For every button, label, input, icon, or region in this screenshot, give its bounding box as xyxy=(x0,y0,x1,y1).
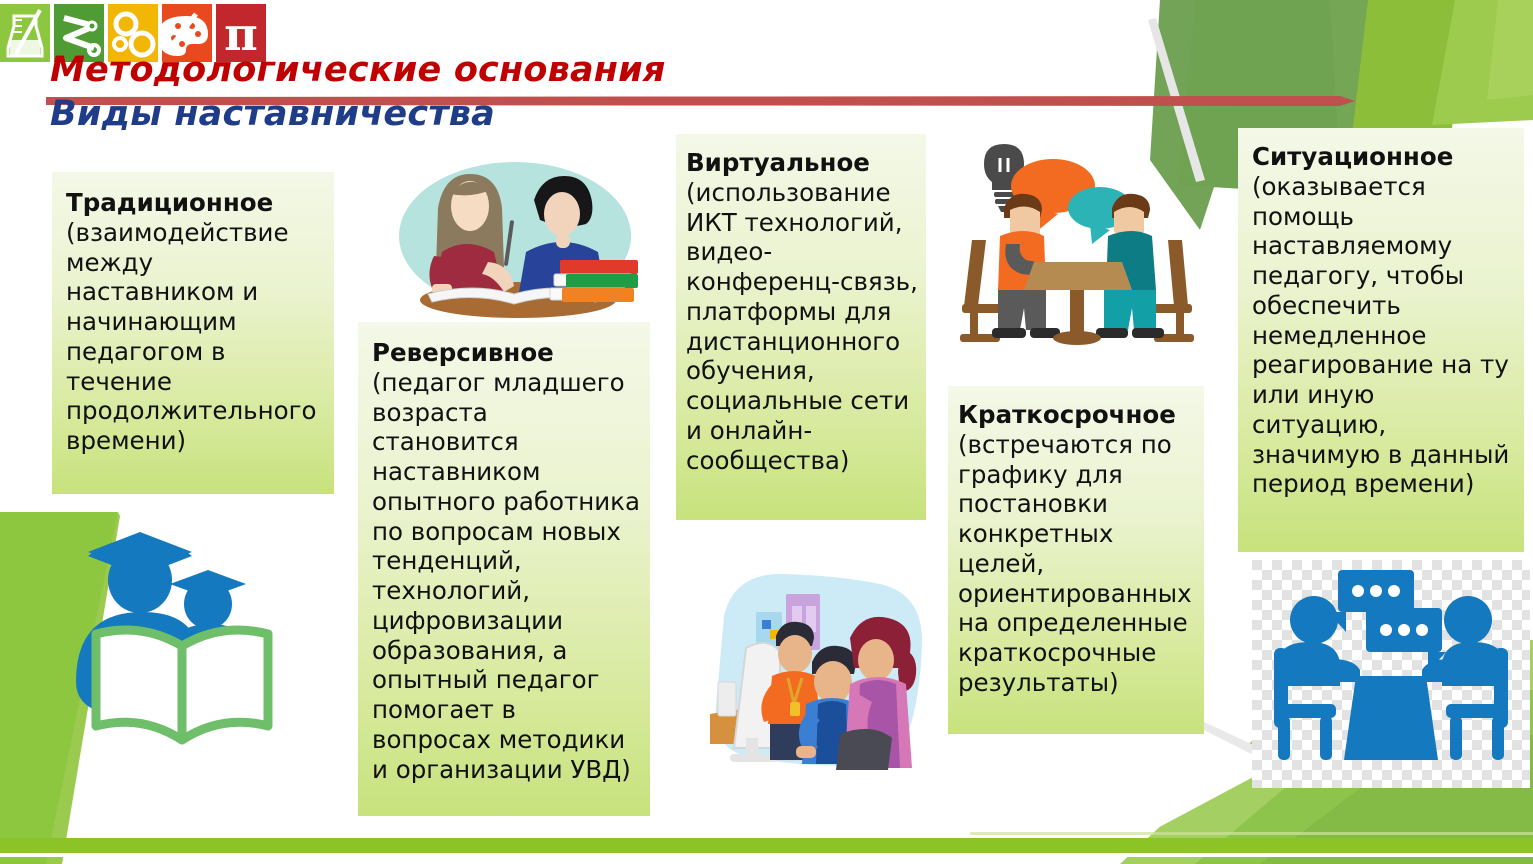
chair-right xyxy=(1168,240,1188,306)
chair-right-leg2-icon xyxy=(1492,716,1504,760)
title-block: Методологические основания Виды наставни… xyxy=(50,52,666,134)
card-reverse-text: Реверсивное (педагог младшего возраста с… xyxy=(372,338,642,784)
dot-upper-2 xyxy=(1370,585,1382,597)
person-right-shoe-2 xyxy=(1132,328,1164,338)
student-cap xyxy=(170,570,246,598)
two-people-meeting-illustration xyxy=(948,128,1206,378)
card-traditional-text: Традиционное (взаимодействие между наста… xyxy=(66,188,324,456)
chair-back xyxy=(836,729,892,770)
card-situational[interactable]: Ситуационное (оказывается помощь наставл… xyxy=(1238,128,1524,552)
chair-left-leg2-icon xyxy=(1320,716,1332,760)
woman-face xyxy=(858,639,894,681)
page-title: Методологические основания xyxy=(50,52,666,90)
card-virtual-body: (использование ИКТ технологий, видео-кон… xyxy=(686,178,918,475)
dot-lower-3 xyxy=(1416,624,1428,636)
chair-left-leg1-icon xyxy=(1278,716,1290,760)
card-situational-heading: Ситуационное xyxy=(1252,142,1453,171)
person-right-legs xyxy=(1104,290,1156,330)
open-book-left xyxy=(96,630,182,740)
mentor-cap xyxy=(88,532,192,572)
table-base xyxy=(1053,331,1101,345)
chair-left-leg xyxy=(970,313,978,337)
card-virtual-text: Виртуальное (использование ИКТ технологи… xyxy=(686,148,918,475)
dot-upper-3 xyxy=(1388,585,1400,597)
book-red xyxy=(560,260,638,274)
boy-face xyxy=(544,192,580,236)
table-top xyxy=(1024,262,1132,290)
card-virtual-heading: Виртуальное xyxy=(686,148,870,177)
boy-orange-face xyxy=(778,635,812,673)
poster-blue-sq1 xyxy=(762,620,771,629)
page-subtitle: Виды наставничества xyxy=(50,96,666,134)
team-at-computer-illustration xyxy=(700,552,940,792)
card-traditional-heading: Традиционное xyxy=(66,188,273,217)
chair-right-seat-icon xyxy=(1446,704,1508,718)
card-short-term-body: (встречаются по графику для постановки к… xyxy=(958,430,1192,697)
card-short-term-heading: Краткосрочное xyxy=(958,400,1176,429)
boy-orange-badge xyxy=(790,702,800,716)
person-left-head-icon xyxy=(1290,596,1338,644)
monitor-stand xyxy=(746,738,758,756)
chair-left xyxy=(964,240,986,306)
book-green xyxy=(566,274,638,288)
discussion-table-icon xyxy=(1252,560,1530,788)
person-left-legs xyxy=(998,290,1046,330)
person-left-shoe xyxy=(992,328,1026,338)
slide-canvas: Методологические основания Виды наставни… xyxy=(0,0,1533,864)
small-monitor xyxy=(718,682,736,716)
card-reverse-body: (педагог младшего возраста становится на… xyxy=(372,368,640,784)
person-right-head-icon xyxy=(1444,596,1492,644)
card-situational-body: (оказывается помощь наставляемому педаго… xyxy=(1252,172,1509,499)
boy-blue-hand xyxy=(796,746,816,758)
card-virtual[interactable]: Виртуальное (использование ИКТ технологи… xyxy=(676,134,926,520)
boy-blue-face xyxy=(814,661,852,703)
dot-lower-1 xyxy=(1380,624,1392,636)
book-orange xyxy=(562,288,634,302)
open-book-right xyxy=(182,630,268,740)
card-reverse[interactable]: Реверсивное (педагог младшего возраста с… xyxy=(358,322,650,816)
bottom-green-band xyxy=(0,838,1533,853)
card-traditional-body: (взаимодействие между наставником и начи… xyxy=(66,218,316,455)
lightbulb-base-1 xyxy=(994,192,1014,197)
bottom-green-band-light xyxy=(0,853,1533,857)
card-short-term[interactable]: Краткосрочное (встречаются по графику дл… xyxy=(948,386,1204,734)
card-situational-text: Ситуационное (оказывается помощь наставл… xyxy=(1252,142,1516,499)
table-icon xyxy=(1344,676,1438,760)
boy-hand xyxy=(556,234,570,248)
card-reverse-heading: Реверсивное xyxy=(372,338,554,367)
person-right-shoe xyxy=(1096,328,1128,338)
chair-right-leg xyxy=(1176,313,1184,337)
chair-left-seat-icon xyxy=(1274,704,1336,718)
bottom-pale-line xyxy=(970,832,1533,835)
mentor-and-student-book-icon xyxy=(62,522,312,754)
chair-right-leg1-icon xyxy=(1450,716,1462,760)
dot-lower-2 xyxy=(1398,624,1410,636)
card-traditional[interactable]: Традиционное (взаимодействие между наста… xyxy=(52,172,334,494)
dot-upper-1 xyxy=(1352,585,1364,597)
two-students-studying-illustration xyxy=(370,148,660,330)
table-post xyxy=(1070,290,1084,336)
card-short-term-text: Краткосрочное (встречаются по графику дл… xyxy=(958,400,1196,698)
